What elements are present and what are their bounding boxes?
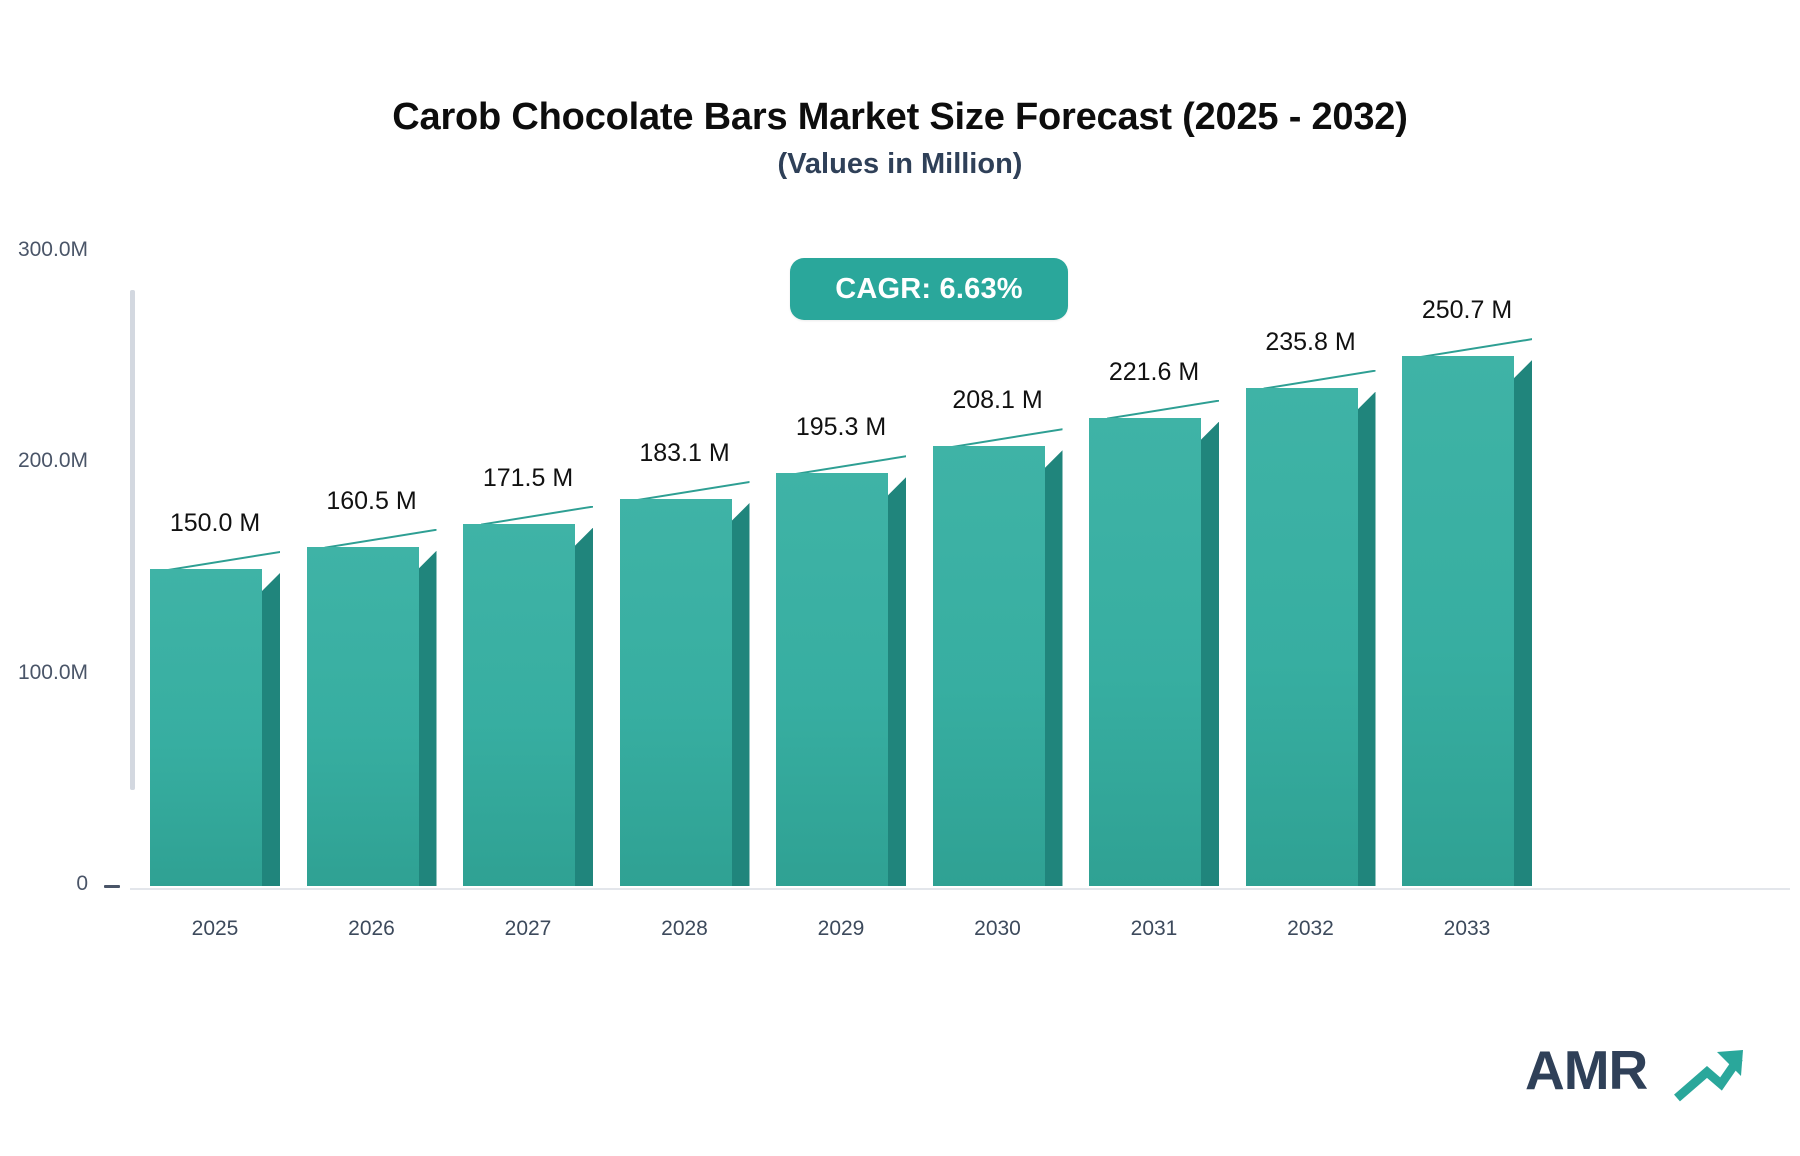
- amr-logo-text: AMR: [1525, 1040, 1647, 1100]
- bar-side-face: [1514, 360, 1532, 886]
- bar: [776, 455, 906, 886]
- y-tick-label: 0: [0, 872, 88, 896]
- y-axis-line: [130, 290, 135, 790]
- bar-front-face: [1246, 388, 1358, 886]
- bar-value-label: 195.3 M: [746, 413, 936, 442]
- bar-top-face: [1089, 400, 1219, 418]
- bar-value-label: 221.6 M: [1059, 358, 1249, 387]
- bar-side-face: [1045, 450, 1063, 886]
- bar-top-face: [463, 506, 593, 524]
- bar-top-face: [307, 529, 437, 547]
- amr-logo: AMR: [1525, 1040, 1755, 1110]
- bar-side-face: [1201, 422, 1219, 886]
- bar: [463, 506, 593, 886]
- bar-front-face: [463, 524, 575, 886]
- bar-top-face: [933, 428, 1063, 446]
- bar-side-face: [419, 551, 437, 886]
- bar-side-face: [732, 503, 750, 886]
- bar-top-face: [150, 551, 280, 569]
- bar-top-face: [620, 481, 750, 499]
- y-tick-label: 100.0M: [0, 661, 88, 685]
- bar: [1246, 370, 1376, 886]
- bar: [1402, 338, 1532, 886]
- y-tick-label: 200.0M: [0, 449, 88, 473]
- plot-area: 300.0M200.0M100.0M0 150.0 M160.5 M171.5 …: [0, 0, 1800, 1156]
- x-axis-line: [130, 888, 1790, 890]
- bar: [307, 529, 437, 886]
- bar: [150, 551, 280, 886]
- y-tick-label: 300.0M: [0, 238, 88, 262]
- bar-value-label: 235.8 M: [1216, 328, 1406, 357]
- bar-value-label: 208.1 M: [903, 386, 1093, 415]
- bar-side-face: [888, 477, 906, 886]
- x-tick-label: 2033: [1372, 917, 1562, 941]
- bar-front-face: [1089, 418, 1201, 886]
- bar-front-face: [1402, 356, 1514, 886]
- bar-side-face: [575, 528, 593, 886]
- bar: [933, 428, 1063, 886]
- bar-front-face: [620, 499, 732, 886]
- bar-front-face: [307, 547, 419, 886]
- bar: [1089, 400, 1219, 886]
- bar-value-label: 183.1 M: [590, 439, 780, 468]
- bar-value-label: 250.7 M: [1372, 296, 1562, 325]
- chart-canvas: Carob Chocolate Bars Market Size Forecas…: [0, 0, 1800, 1156]
- bar-top-face: [1246, 370, 1376, 388]
- growth-arrow-icon: [1673, 1046, 1745, 1104]
- bar-side-face: [1358, 392, 1376, 886]
- bar-front-face: [150, 569, 262, 886]
- bar: [620, 481, 750, 886]
- bar-top-face: [776, 455, 906, 473]
- bar-side-face: [262, 573, 280, 886]
- bar-top-face: [1402, 338, 1532, 356]
- bar-front-face: [776, 473, 888, 886]
- y-tick-mark: [104, 885, 120, 888]
- bar-front-face: [933, 446, 1045, 886]
